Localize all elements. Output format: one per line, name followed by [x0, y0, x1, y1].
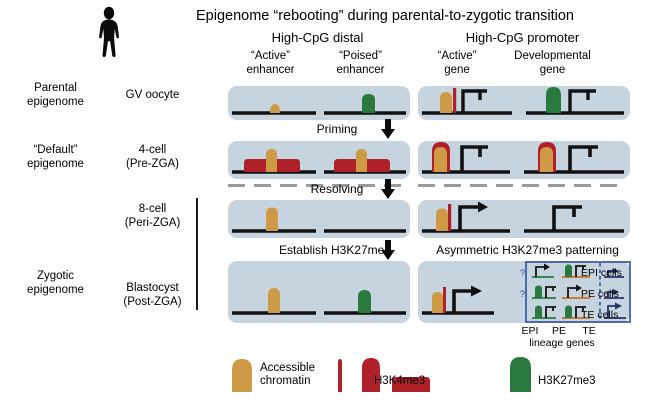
stage-group-line2: epigenome [8, 158, 103, 172]
legend-label-h3k4me3: H3K4me3 [374, 375, 425, 388]
transition-label-asymmetric-h3k27me3: Asymmetric H3K27me3 patterning [420, 243, 635, 257]
lineage-row-label-pe: PE cells [581, 288, 619, 300]
column-header-line1: “Active” [418, 50, 496, 64]
human-silhouette-icon [92, 6, 126, 58]
dashed-separator-promoter [418, 184, 630, 187]
stage-line1: 8-cell [110, 203, 195, 217]
group-header-promoter: High-CpG promoter [415, 30, 630, 45]
panel-8-cell-promoter [418, 200, 630, 238]
stage-label-8-cell: 8-cell (Peri-ZGA) [110, 203, 195, 230]
lineage-grid-caption: lineage genes [512, 337, 612, 349]
panel-4-cell-distal [228, 141, 410, 179]
column-header-line2: gene [500, 64, 605, 78]
stage-line1: GV oocyte [110, 89, 195, 103]
stage-group-line2: epigenome [8, 284, 103, 298]
lineage-col-label-pe: PE [548, 325, 570, 337]
legend-label-accessible-chromatin: Accessible chromatin [260, 362, 340, 388]
stage-group-line1: Zygotic [8, 270, 103, 284]
figure-title: Epigenome “rebooting” during parental-to… [130, 8, 640, 25]
zygotic-bracket [196, 198, 198, 310]
panel-8-cell-distal [228, 200, 410, 238]
stage-line2: (Post-ZGA) [110, 296, 195, 310]
svg-text:?: ? [520, 289, 525, 299]
panel-gv-oocyte-distal [228, 86, 410, 120]
stage-line2: (Peri-ZGA) [110, 217, 195, 231]
column-header-developmental-gene: Developmental gene [500, 50, 605, 77]
lineage-col-label-epi: EPI [516, 325, 544, 337]
column-header-poised-enhancer: “Poised” enhancer [318, 50, 403, 77]
column-header-line2: gene [418, 64, 496, 78]
stage-line1: Blastocyst [110, 282, 195, 296]
stage-group-line1: “Default” [8, 144, 103, 158]
stage-group-parental: Parental epigenome [8, 82, 103, 109]
stage-group-line1: Parental [8, 82, 103, 96]
stage-group-line2: epigenome [8, 96, 103, 110]
panel-4-cell-promoter [418, 141, 630, 179]
stage-group-default: “Default” epigenome [8, 144, 103, 171]
priming-arrow-icon [381, 119, 395, 139]
stage-line2: (Pre-ZGA) [110, 158, 195, 172]
legend-line2: chromatin [260, 375, 340, 388]
column-header-active-gene: “Active” gene [418, 50, 496, 77]
column-header-line1: Developmental [500, 50, 605, 64]
stage-label-blastocyst: Blastocyst (Post-ZGA) [110, 282, 195, 309]
legend-line1: Accessible [260, 362, 340, 375]
stage-label-gv-oocyte: GV oocyte [110, 89, 195, 103]
column-header-line2: enhancer [228, 64, 313, 78]
column-header-active-enhancer: “Active” enhancer [228, 50, 313, 77]
group-header-distal: High-CpG distal [225, 30, 410, 45]
panel-gv-oocyte-promoter [418, 86, 630, 120]
stage-label-4-cell: 4-cell (Pre-ZGA) [110, 144, 195, 171]
column-header-line1: “Poised” [318, 50, 403, 64]
stage-group-zygotic: Zygotic epigenome [8, 270, 103, 297]
column-header-line2: enhancer [318, 64, 403, 78]
legend-label-h3k27me3: H3K27me3 [538, 375, 596, 388]
lineage-row-label-epi: EPI cells [581, 267, 622, 279]
svg-text:?: ? [520, 268, 525, 278]
column-header-line1: “Active” [228, 50, 313, 64]
establish-arrow-icon [381, 240, 395, 260]
panel-blastocyst-distal [228, 261, 410, 323]
lineage-row-label-te: TE cells [581, 309, 618, 321]
stage-line1: 4-cell [110, 144, 195, 158]
lineage-col-label-te: TE [576, 325, 602, 337]
resolving-arrow-icon [381, 179, 395, 199]
